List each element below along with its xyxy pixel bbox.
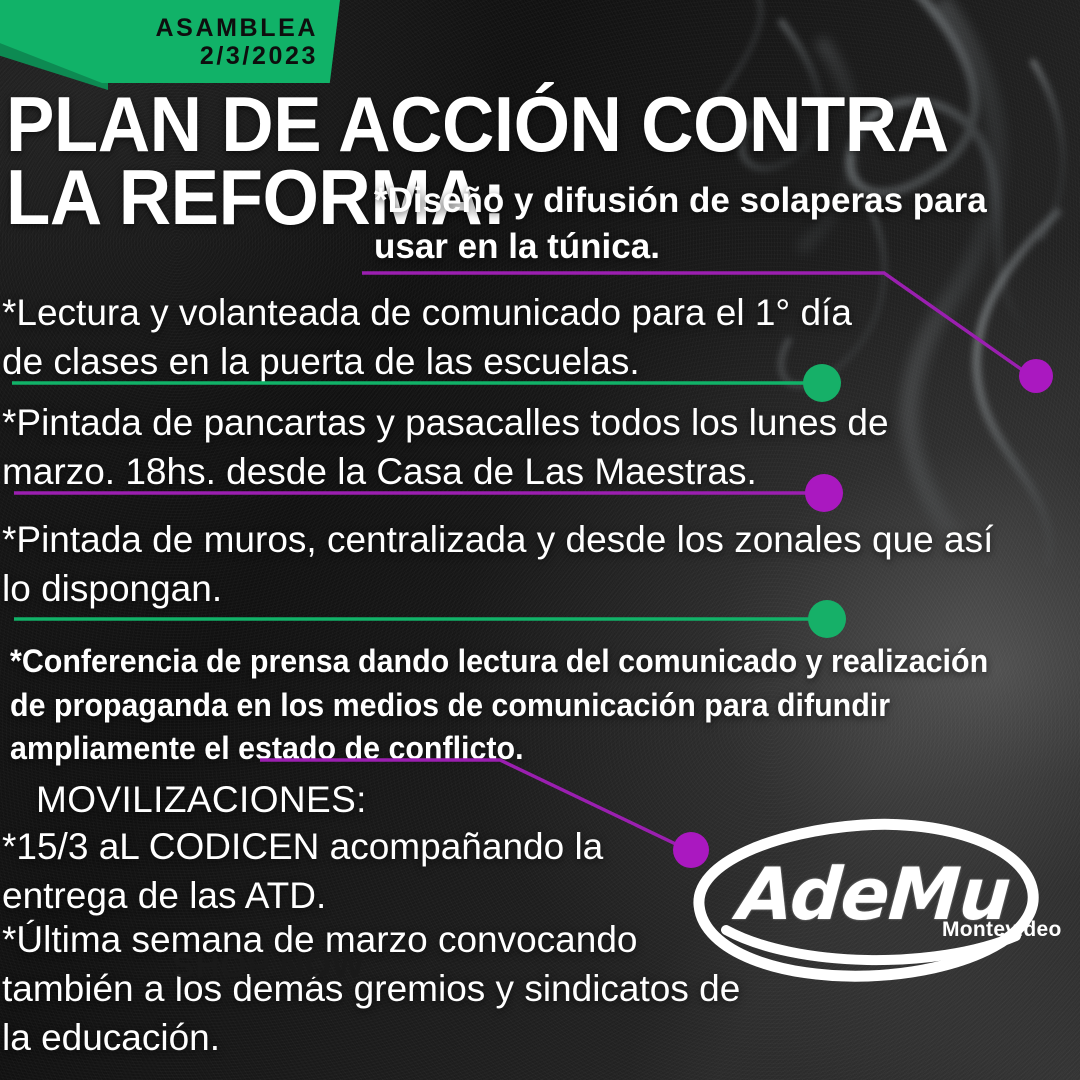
action-item-pancartas: *Pintada de pancartas y pasacalles todos…: [2, 398, 992, 496]
shop-now-watermark: SHOP NOW: [172, 947, 364, 986]
banner-label-assembly: ASAMBLEA: [156, 14, 318, 42]
logo-city-label: Montevideo: [942, 918, 1062, 942]
ademu-logo: AdeMu Montevideo: [686, 818, 1046, 983]
action-item-muros: *Pintada de muros, centralizada y desde …: [2, 515, 1017, 613]
action-item-lectura: *Lectura y volanteada de comunicado para…: [2, 288, 902, 386]
mobilization-item-ultima-semana: *Última semana de marzo convocando tambi…: [2, 915, 762, 1063]
banner-label-date: 2/3/2023: [200, 42, 318, 70]
mobilization-item-codicen: *15/3 aL CODICEN acompañando la entrega …: [2, 822, 702, 920]
action-item-conferencia: *Conferencia de prensa dando lectura del…: [10, 640, 1008, 771]
poster-canvas: ASAMBLEA 2/3/2023 PLAN DE ACCIÓN CONTRA …: [0, 0, 1080, 1080]
action-item-solaperas: *Diseño y difusión de solaperas para usa…: [374, 178, 1064, 269]
mobilizations-heading: MOVILIZACIONES:: [36, 778, 367, 822]
